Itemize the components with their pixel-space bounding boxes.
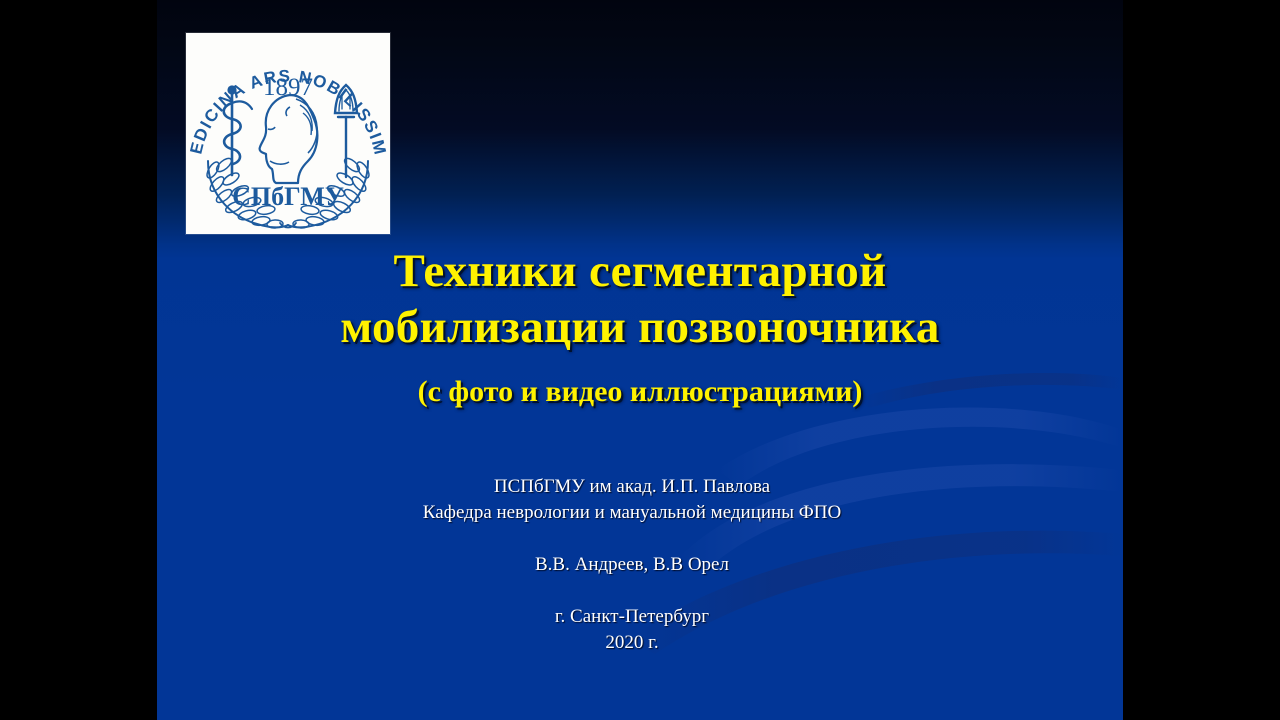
svg-text:1897: 1897 xyxy=(263,74,313,101)
city-line: г. Санкт-Петербург xyxy=(157,604,1107,630)
letterbox-bar-right xyxy=(1123,0,1280,720)
letterbox-bar-left xyxy=(0,0,157,720)
slide-title-block: Техники сегментарной мобилизации позвоно… xyxy=(157,243,1123,411)
authors-line: В.В. Андреев, В.В Орел xyxy=(157,552,1107,578)
presentation-screen: MEDICINA ARS NOBILISSIMA 1897 xyxy=(0,0,1280,720)
slide-credits-block: ПСПбГМУ им акад. И.П. Павлова Кафедра не… xyxy=(157,474,1107,656)
university-logo: MEDICINA ARS NOBILISSIMA 1897 xyxy=(186,33,390,234)
title-line-1: Техники сегментарной xyxy=(157,243,1123,299)
department-line: Кафедра неврологии и мануальной медицины… xyxy=(157,500,1107,526)
slide-subtitle: (с фото и видео иллюстрациями) xyxy=(157,373,1123,411)
year-line: 2020 г. xyxy=(157,630,1107,656)
institution-line: ПСПбГМУ им акад. И.П. Павлова xyxy=(157,474,1107,500)
university-seal-icon: MEDICINA ARS NOBILISSIMA 1897 xyxy=(186,33,390,234)
title-line-2: мобилизации позвоночника xyxy=(157,299,1123,355)
title-slide: MEDICINA ARS NOBILISSIMA 1897 xyxy=(157,0,1123,720)
